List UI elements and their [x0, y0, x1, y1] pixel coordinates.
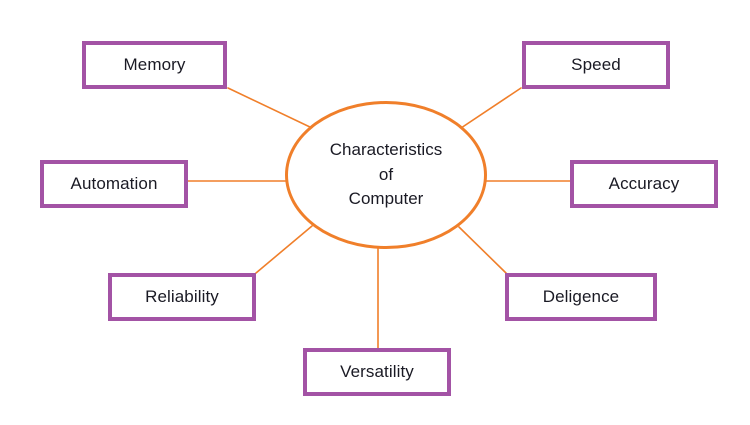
center-node-characteristics-of-computer: Characteristics of Computer [285, 101, 487, 249]
node-speed-label: Speed [571, 56, 621, 75]
node-automation-label: Automation [71, 175, 158, 194]
node-versatility[interactable]: Versatility [303, 348, 451, 396]
node-memory-label: Memory [124, 56, 186, 75]
node-reliability-label: Reliability [145, 288, 219, 307]
node-reliability[interactable]: Reliability [108, 273, 256, 321]
node-deligence-label: Deligence [543, 288, 620, 307]
connector-deligence [459, 227, 506, 273]
center-node-label: Characteristics of Computer [330, 138, 442, 212]
connector-reliability [256, 226, 312, 273]
node-memory[interactable]: Memory [82, 41, 227, 89]
node-accuracy-label: Accuracy [609, 175, 680, 194]
connector-memory [228, 88, 312, 128]
diagram-canvas: Characteristics of Computer Memory Speed… [0, 0, 750, 425]
node-automation[interactable]: Automation [40, 160, 188, 208]
connector-speed [461, 88, 521, 128]
node-versatility-label: Versatility [340, 363, 414, 382]
node-accuracy[interactable]: Accuracy [570, 160, 718, 208]
node-speed[interactable]: Speed [522, 41, 670, 89]
node-deligence[interactable]: Deligence [505, 273, 657, 321]
